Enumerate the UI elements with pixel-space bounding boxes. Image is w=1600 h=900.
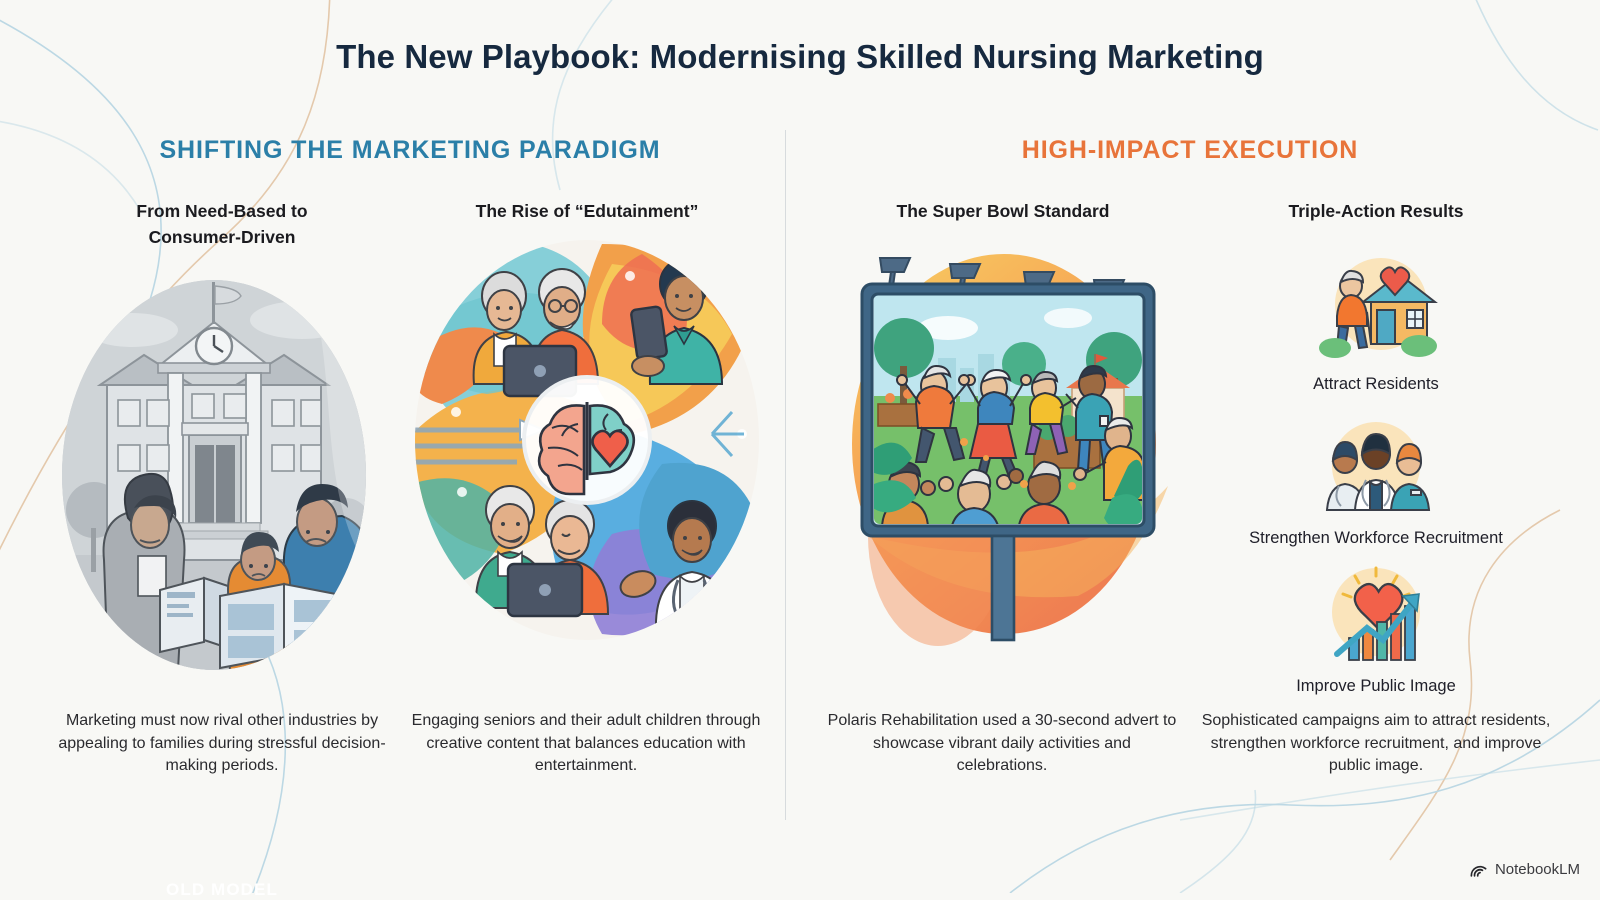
column-title-line2: Consumer-Driven [149,227,296,247]
section-heading-shifting: SHIFTING THE MARKETING PARADIGM [60,136,760,165]
healthcare-team-icon [1311,418,1441,518]
section-heading-execution: HIGH-IMPACT EXECUTION [840,136,1540,165]
caption-edutainment: Engaging seniors and their adult childre… [410,710,762,778]
caption-super-bowl: Polaris Rehabilitation used a 30-second … [826,710,1178,778]
column-title-old-model: From Need-Based to Consumer-Driven [52,198,392,250]
column-title-line1: From Need-Based to [136,201,307,221]
notebooklm-label: NotebookLM [1495,861,1580,878]
column-triple-action: Triple-Action Results [1192,198,1560,224]
result-improve-public-image: Improve Public Image [1192,562,1560,697]
column-title-triple-action: Triple-Action Results [1192,198,1560,224]
column-super-bowl: The Super Bowl Standard [828,198,1178,646]
column-edutainment: The Rise of “Edutainment” [412,198,762,646]
result-strengthen-workforce: Strengthen Workforce Recruitment [1192,418,1560,549]
result-label-strengthen-workforce: Strengthen Workforce Recruitment [1192,527,1560,549]
old-model-badge: OLD MODEL [52,880,392,900]
section-divider [785,130,786,820]
caption-old-model: Marketing must now rival other industrie… [48,710,396,778]
page-title: The New Playbook: Modernising Skilled Nu… [0,38,1600,76]
caption-triple-action: Sophisticated campaigns aim to attract r… [1190,710,1562,778]
notebooklm-spiral-icon [1469,860,1488,879]
heart-growth-chart-icon [1311,562,1441,666]
column-title-edutainment: The Rise of “Edutainment” [412,198,762,224]
result-attract-residents: Attract Residents [1192,252,1560,395]
illustration-old-model: OLD MODEL [52,260,392,670]
column-old-model: From Need-Based to Consumer-Driven [52,198,392,670]
column-title-super-bowl: The Super Bowl Standard [828,198,1178,224]
house-senior-heart-icon [1311,252,1441,364]
illustration-billboard [828,236,1178,646]
illustration-edutainment [412,234,762,646]
result-label-improve-public-image: Improve Public Image [1192,675,1560,697]
result-label-attract-residents: Attract Residents [1192,373,1560,395]
notebooklm-watermark: NotebookLM [1469,860,1580,879]
